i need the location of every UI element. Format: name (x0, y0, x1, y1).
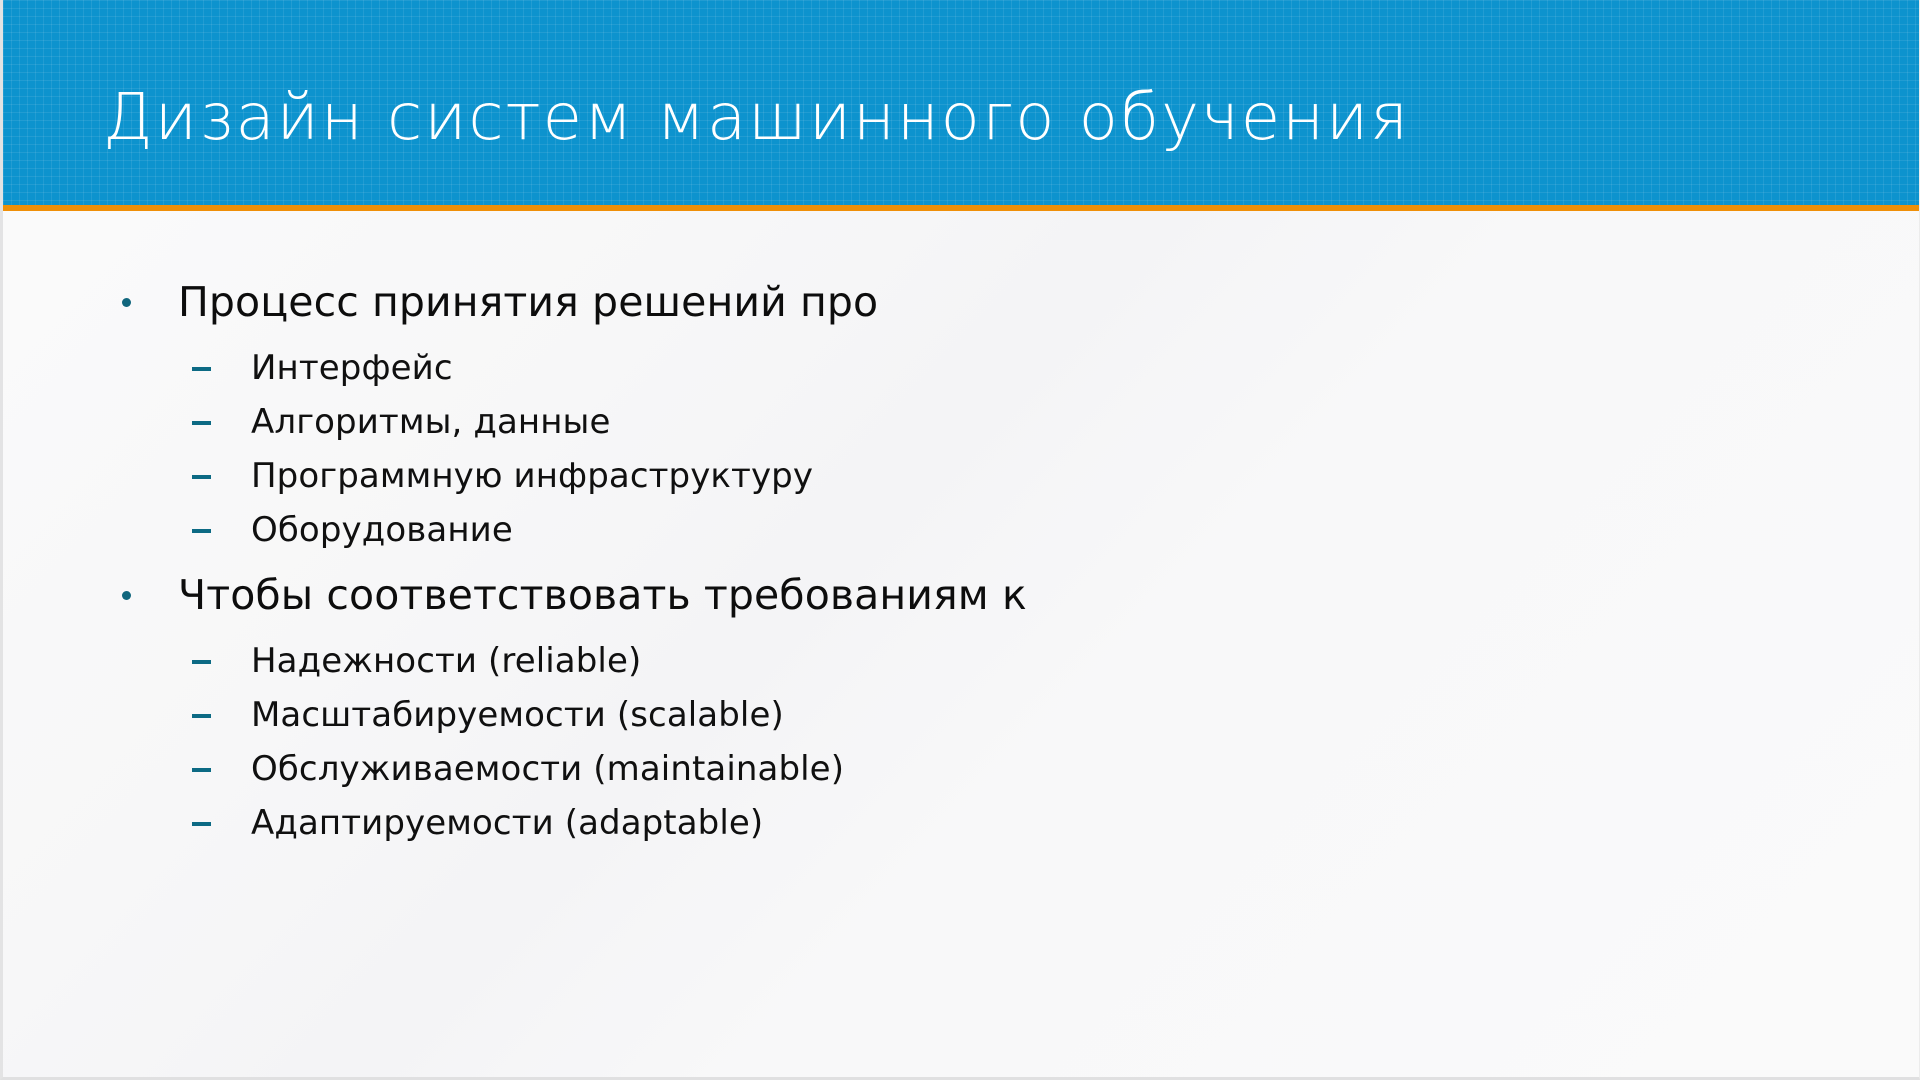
list-item-level2: Масштабируемости (scalable) (107, 688, 1863, 742)
bullet-dot-icon (122, 298, 131, 307)
bullet-dash-icon (192, 714, 211, 718)
list-item-level2-label: Надежности (reliable) (251, 641, 641, 681)
slide-body: Процесс принятия решений про Интерфейс А… (3, 211, 1920, 1077)
bullet-dash-icon (192, 421, 211, 425)
list-item-level2-label: Масштабируемости (scalable) (251, 695, 784, 735)
list-item-level2: Алгоритмы, данные (107, 395, 1863, 449)
list-item-level1: Процесс принятия решений про (107, 269, 1863, 335)
list-item-level1-label: Чтобы соответствовать требованиям к (178, 571, 1027, 619)
bullet-dash-icon (192, 367, 211, 371)
sub-bullet-list: Надежности (reliable) Масштабируемости (… (107, 634, 1863, 850)
list-item-level2-label: Интерфейс (251, 348, 453, 388)
bullet-dash-icon (192, 529, 211, 533)
list-item-level2-label: Программную инфраструктуру (251, 456, 813, 496)
list-item-level2: Интерфейс (107, 341, 1863, 395)
list-item-level1: Чтобы соответствовать требованиям к (107, 562, 1863, 628)
list-item-level2: Обслуживаемости (maintainable) (107, 742, 1863, 796)
list-item-level1-label: Процесс принятия решений про (178, 278, 878, 326)
page-title: Дизайн систем машинного обучения (103, 76, 1863, 160)
list-item-level2: Программную инфраструктуру (107, 449, 1863, 503)
bullet-list: Процесс принятия решений про Интерфейс А… (107, 269, 1863, 850)
bullet-dash-icon (192, 475, 211, 479)
list-item-level2: Надежности (reliable) (107, 634, 1863, 688)
list-item-level2-label: Обслуживаемости (maintainable) (251, 749, 844, 789)
list-item-level2-label: Алгоритмы, данные (251, 402, 611, 442)
sub-bullet-list: Интерфейс Алгоритмы, данные Программную … (107, 341, 1863, 557)
bullet-dot-icon (122, 591, 131, 600)
list-item-level2-label: Оборудование (251, 510, 513, 550)
bullet-dash-icon (192, 768, 211, 772)
slide-header-band: Дизайн систем машинного обучения (3, 0, 1920, 205)
bullet-dash-icon (192, 822, 211, 826)
slide-canvas: Дизайн систем машинного обучения Процесс… (0, 0, 1920, 1080)
list-item-level2-label: Адаптируемости (adaptable) (251, 803, 763, 843)
bullet-dash-icon (192, 660, 211, 664)
list-item-level2: Адаптируемости (adaptable) (107, 796, 1863, 850)
list-item-level2: Оборудование (107, 503, 1863, 557)
